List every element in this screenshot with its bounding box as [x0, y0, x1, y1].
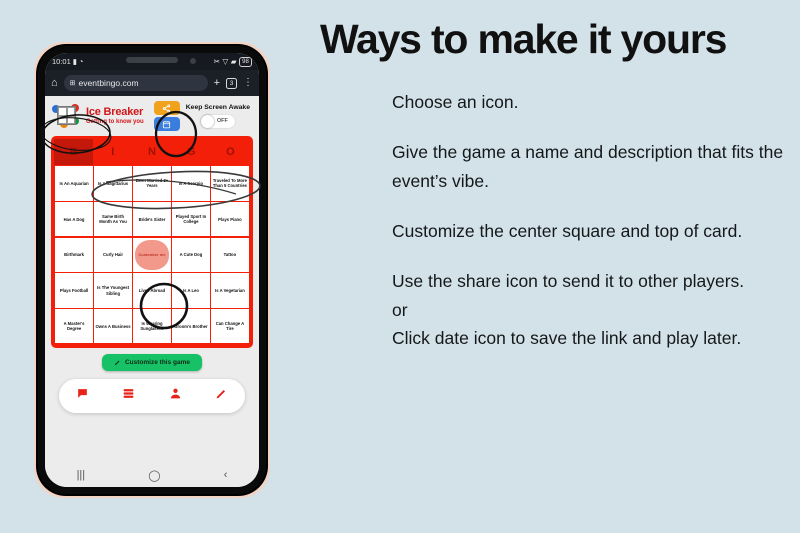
keep-screen-awake-toggle[interactable]: OFF: [201, 115, 235, 128]
toggle-state-label: OFF: [217, 118, 228, 124]
bingo-cell[interactable]: Curly Hair: [94, 238, 132, 273]
pencil-icon: [114, 359, 121, 366]
bingo-letter-o: O: [211, 139, 250, 165]
notch-camera: [190, 58, 196, 64]
wifi-icon: ▽: [222, 57, 228, 66]
bingo-cell[interactable]: Plays Piano: [211, 202, 249, 237]
instruction-paragraph: Give the game a name and description tha…: [392, 138, 790, 195]
bingo-cell[interactable]: Is A Leo: [172, 273, 210, 308]
header-action-buttons: [154, 101, 180, 131]
instruction-paragraph: Click date icon to save the link and pla…: [392, 324, 790, 352]
bingo-cell[interactable]: Is The Youngest Sibling: [94, 273, 132, 308]
bingo-header-row: B I N G O: [54, 139, 250, 165]
instruction-paragraph: Use the share icon to send it to other p…: [392, 267, 790, 295]
bingo-cell[interactable]: A Cute Dog: [172, 238, 210, 273]
list-stack-icon[interactable]: [122, 387, 135, 405]
bingo-cell[interactable]: Is A Scorpio: [172, 166, 210, 201]
mute-icon: ✂: [214, 57, 220, 66]
browser-toolbar: ⌂ ⊞ eventbingo.com + 3 ⋮: [45, 70, 259, 96]
url-bar[interactable]: ⊞ eventbingo.com: [64, 75, 208, 91]
page-title: Ways to make it yours: [320, 18, 790, 61]
web-page: Ice Breaker Getting to know you: [45, 96, 259, 487]
site-settings-icon[interactable]: ⊞: [70, 79, 76, 87]
more-vertical-icon[interactable]: ⋮: [243, 78, 253, 88]
bingo-cell[interactable]: Owns A Business: [94, 309, 132, 344]
person-icon[interactable]: [169, 387, 182, 405]
bingo-letter-g: G: [172, 139, 211, 165]
bingo-cell[interactable]: A Master's Degree: [55, 309, 93, 344]
customize-button-label: Customize this game: [125, 359, 190, 366]
game-subtitle: Getting to know you: [86, 119, 144, 125]
tab-count-button[interactable]: 3: [226, 78, 237, 89]
instruction-paragraph: Choose an icon.: [392, 88, 790, 116]
bingo-cell[interactable]: Bride's Sister: [133, 202, 171, 237]
bingo-cell[interactable]: Been Married 8+ Years: [133, 166, 171, 201]
back-icon[interactable]: ‹: [224, 469, 228, 481]
keep-screen-awake-label: Keep Screen Awake: [186, 104, 250, 112]
url-text: eventbingo.com: [79, 78, 139, 88]
game-title: Ice Breaker: [86, 107, 144, 118]
notch-speaker: [126, 57, 178, 63]
bingo-cell[interactable]: Is Wearing Sunglasses: [133, 309, 171, 344]
battery-indicator: 98: [239, 57, 252, 67]
status-bar: 10:01 ▮ ◔ ✂ ▽ ▰ 98: [45, 53, 259, 70]
brand-block[interactable]: Ice Breaker Getting to know you: [51, 101, 144, 131]
instruction-list: Choose an icon. Give the game a name and…: [320, 88, 790, 352]
bingo-cell[interactable]: Played Sport In College: [172, 202, 210, 237]
sim-icon: ▮: [73, 57, 77, 66]
instruction-paragraph: Customize the center square and top of c…: [392, 217, 790, 245]
recents-icon[interactable]: |||: [77, 469, 86, 481]
bingo-cell[interactable]: Birthmark: [55, 238, 93, 273]
instructions-panel: Ways to make it yours Choose an icon. Gi…: [320, 18, 790, 352]
bingo-grid-icon[interactable]: [51, 101, 83, 131]
chat-bubble-icon[interactable]: [76, 387, 89, 405]
bingo-letter-i: I: [93, 139, 132, 165]
bingo-cell[interactable]: Is An Aquarian: [55, 166, 93, 201]
bingo-letter-b: B: [54, 139, 93, 165]
phone-screen: 10:01 ▮ ◔ ✂ ▽ ▰ 98 ⌂ ⊞ eventbingo.co: [45, 53, 259, 487]
phone-mockup: 10:01 ▮ ◔ ✂ ▽ ▰ 98 ⌂ ⊞ eventbingo.co: [28, 22, 276, 516]
bingo-grid: Is An Aquarian Is A Sagittarius Been Mar…: [54, 165, 250, 345]
bingo-cell[interactable]: Is A Sagittarius: [94, 166, 132, 201]
signal-icon: ▰: [231, 57, 237, 66]
bingo-cell[interactable]: Has A Dog: [55, 202, 93, 237]
home-icon[interactable]: ◯: [148, 469, 160, 482]
icon-grid: [57, 106, 76, 125]
bingo-cell[interactable]: Can Change A Tire: [211, 309, 249, 344]
calendar-icon[interactable]: [154, 117, 180, 131]
bingo-cell[interactable]: Lives Abroad: [133, 273, 171, 308]
bingo-cell[interactable]: Plays Football: [55, 273, 93, 308]
bingo-cell[interactable]: Traveled To More Than 5 Countries: [211, 166, 249, 201]
bingo-cell-center-customize[interactable]: Customize me: [133, 238, 171, 273]
bingo-letter-n: N: [132, 139, 171, 165]
share-icon[interactable]: [154, 101, 180, 115]
new-tab-button[interactable]: +: [214, 78, 220, 89]
customize-this-game-button[interactable]: Customize this game: [102, 354, 202, 371]
toggle-knob: [201, 115, 214, 128]
instruction-paragraph-or: or: [392, 296, 790, 324]
pencil-icon[interactable]: [215, 387, 228, 405]
alarm-icon: ◔: [79, 57, 84, 66]
home-icon[interactable]: ⌂: [51, 78, 58, 89]
app-header: Ice Breaker Getting to know you: [45, 96, 259, 134]
bingo-cell[interactable]: Tattoo: [211, 238, 249, 273]
bingo-cell[interactable]: Groom's Brother: [172, 309, 210, 344]
bingo-card: B I N G O Is An Aquarian Is A Sagittariu…: [51, 136, 253, 348]
status-time: 10:01: [52, 57, 71, 66]
keep-screen-awake-block: Keep Screen Awake OFF: [186, 104, 253, 127]
bingo-cell[interactable]: Same Birth Month As You: [94, 202, 132, 237]
phone-body: 10:01 ▮ ◔ ✂ ▽ ▰ 98 ⌂ ⊞ eventbingo.co: [38, 46, 266, 494]
android-navigation-bar: ||| ◯ ‹: [45, 463, 259, 487]
bingo-cell[interactable]: Is A Vegetarian: [211, 273, 249, 308]
app-bottom-nav: [59, 379, 245, 413]
bingo-cell-label: Customize me: [138, 252, 165, 257]
